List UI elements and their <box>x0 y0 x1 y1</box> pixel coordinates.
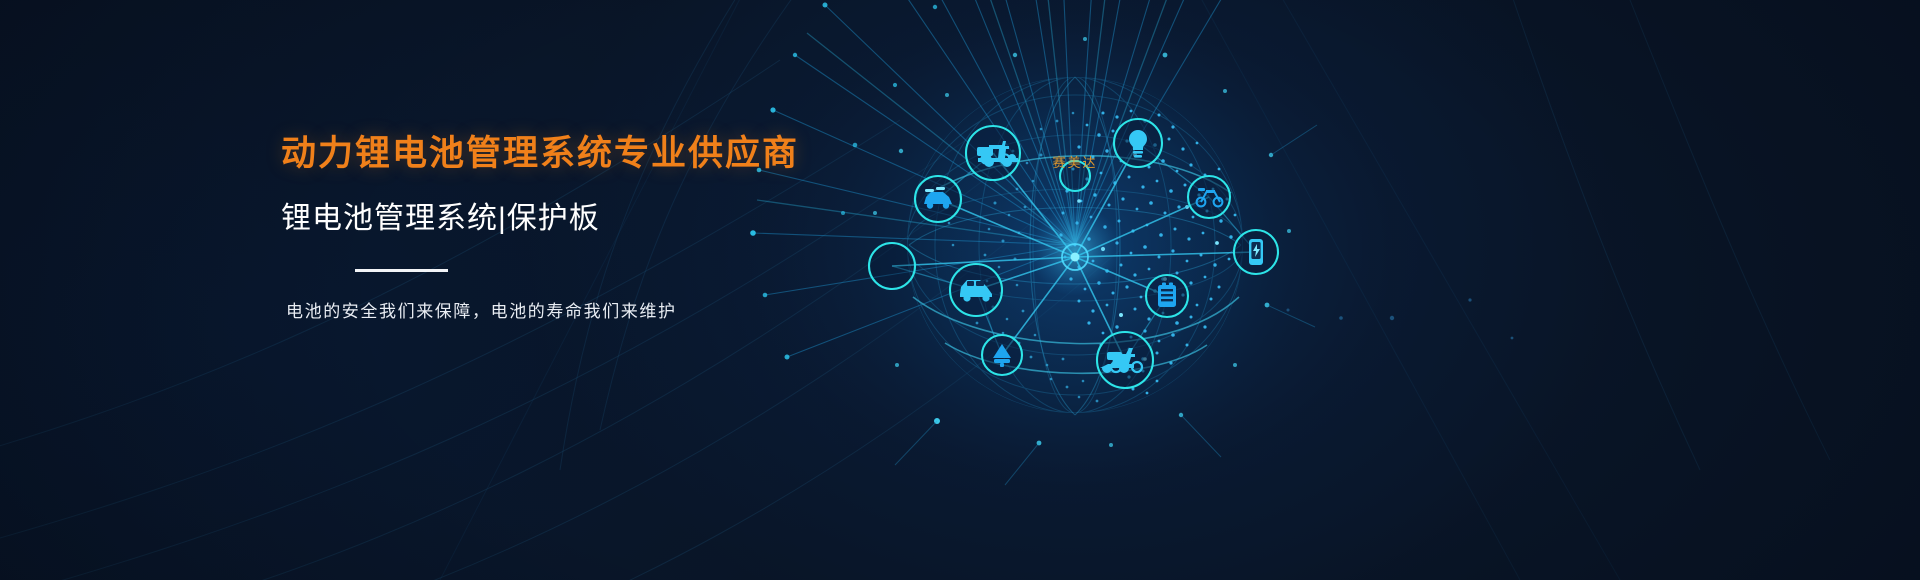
hero-subtitle: 锂电池管理系统|保护板 <box>281 200 901 238</box>
globe-core-glow <box>1029 204 1121 296</box>
node-drone[interactable] <box>982 335 1022 375</box>
node-battery-pack[interactable] <box>1146 275 1188 317</box>
hero-text-block: 动力锂电池管理系统专业供应商 锂电池管理系统|保护板 电池的安全我们来保障，电池… <box>281 132 901 322</box>
node-scooter-bottom[interactable] <box>1097 332 1153 388</box>
node-scooter-top[interactable] <box>966 126 1020 180</box>
node-car-left[interactable] <box>915 176 961 222</box>
page-title: 动力锂电池管理系统专业供应商 <box>281 132 901 176</box>
node-ebike-right[interactable] <box>1188 176 1230 218</box>
hub-center-dot <box>1071 253 1080 262</box>
hero-banner: 赛美达 <box>0 0 1920 580</box>
divider <box>355 269 448 272</box>
node-lightbulb[interactable] <box>1114 119 1162 167</box>
hero-tagline: 电池的安全我们来保障，电池的寿命我们来维护 <box>286 297 901 322</box>
battery-pack-icon <box>1158 283 1176 308</box>
phone-battery-icon <box>1249 239 1263 265</box>
node-car-bottom[interactable] <box>950 264 1002 316</box>
node-ring <box>1188 176 1230 218</box>
dotted-globe-network-graphic: 赛美达 <box>835 0 1475 580</box>
node-phone[interactable] <box>1234 230 1278 274</box>
globe-logo-text: 赛美达 <box>1052 155 1097 170</box>
